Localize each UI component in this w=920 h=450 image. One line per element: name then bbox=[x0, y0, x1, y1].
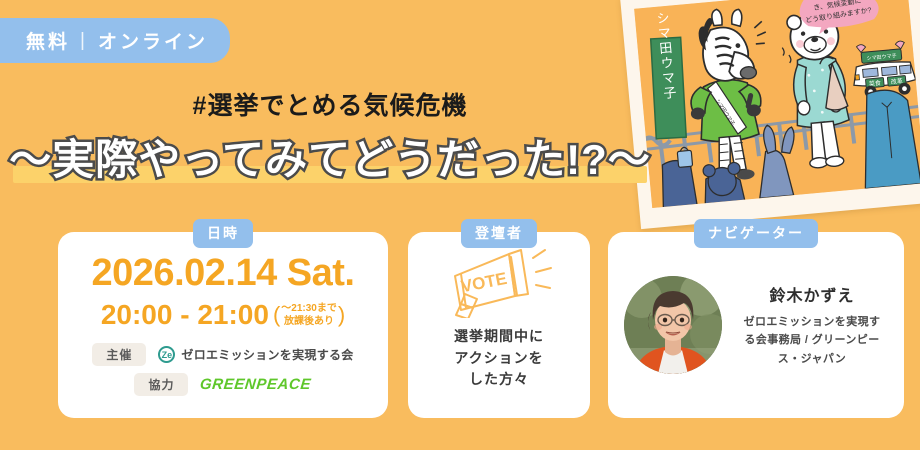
navigator-role-line-2: る会事務局 / グリーンピー bbox=[736, 331, 888, 349]
time-note-line-1: 〜21:30まで bbox=[281, 303, 337, 314]
event-date: 2026.02.14 Sat. bbox=[58, 254, 388, 292]
navigator-card: ナビゲーター bbox=[608, 232, 904, 418]
headline-subtitle: 〜実際やってみてどうだった!?〜 bbox=[9, 126, 651, 187]
speaker-card: 登壇者 VOTE 選挙期間中に アクションを した bbox=[408, 232, 590, 418]
navigator-name: 鈴木かずえ bbox=[736, 282, 888, 306]
credits-block: 主催 Ze ゼロエミッションを実現する会 協力 GREENPEACE bbox=[58, 343, 388, 396]
time-note-line-2: 放課後あり bbox=[284, 316, 334, 327]
event-time-row: 20:00 - 21:00 ( 〜21:30まで 放課後あり ) bbox=[58, 301, 388, 329]
zebra-candidate-street-scene-svg: シマ田ウマ子 bbox=[634, 0, 920, 208]
headline-hashtag: #選挙でとめる気候危機 bbox=[0, 86, 660, 122]
zero-emission-logo: Ze ゼロエミッションを実現する会 bbox=[158, 346, 353, 363]
event-time-note: ( 〜21:30まで 放課後あり ) bbox=[273, 302, 345, 329]
time-note-lines: 〜21:30まで 放課後あり bbox=[280, 302, 338, 329]
credit-row-cooperation: 協力 GREENPEACE bbox=[134, 373, 311, 396]
badge-online-label: オンライン bbox=[98, 27, 208, 54]
speaker-card-tag: 登壇者 bbox=[461, 219, 537, 248]
badge-separator: | bbox=[80, 30, 88, 52]
illustration-image: シマ田ウマ子 bbox=[634, 0, 920, 208]
organizer-label: 主催 bbox=[92, 343, 146, 366]
free-online-badge: 無料 | オンライン bbox=[0, 18, 230, 63]
megaphone-vote-icon: VOTE bbox=[441, 248, 557, 318]
navigator-role: ゼロエミッションを実現す る会事務局 / グリーンピー ス・ジャパン bbox=[736, 313, 888, 367]
date-card-tag: 日時 bbox=[193, 219, 253, 248]
megaphone-vote-text: VOTE bbox=[459, 269, 508, 296]
illustration-polaroid-frame: シマ田ウマ子 bbox=[620, 0, 920, 229]
zero-emission-name: ゼロエミッションを実現する会 bbox=[181, 346, 353, 363]
event-time: 20:00 - 21:00 bbox=[101, 301, 269, 329]
paren-open: ( bbox=[273, 304, 280, 326]
speaker-desc-line-3: した方々 bbox=[454, 369, 544, 391]
paren-close: ) bbox=[338, 304, 345, 326]
headline-block: #選挙でとめる気候危機 〜実際やってみてどうだった!?〜 bbox=[0, 86, 660, 187]
navigator-card-tag: ナビゲーター bbox=[694, 219, 818, 248]
speaker-desc-line-1: 選挙期間中に bbox=[454, 326, 544, 348]
headline-subtitle-wrap: 〜実際やってみてどうだった!?〜 bbox=[9, 126, 651, 187]
cooperation-label: 協力 bbox=[134, 373, 188, 396]
navigator-role-line-3: ス・ジャパン bbox=[736, 350, 888, 368]
poster-canvas: シマ田ウマ子 bbox=[0, 0, 920, 450]
avatar bbox=[624, 276, 722, 374]
date-card: 日時 2026.02.14 Sat. 20:00 - 21:00 ( 〜21:3… bbox=[58, 232, 388, 418]
speaker-description: 選挙期間中に アクションを した方々 bbox=[454, 326, 544, 391]
navigator-card-body: 鈴木かずえ ゼロエミッションを実現す る会事務局 / グリーンピー ス・ジャパン bbox=[608, 232, 904, 418]
badge-free-label: 無料 bbox=[26, 27, 70, 54]
navigator-role-line-1: ゼロエミッションを実現す bbox=[736, 313, 888, 331]
navigator-text: 鈴木かずえ ゼロエミッションを実現す る会事務局 / グリーンピー ス・ジャパン bbox=[736, 282, 888, 367]
speaker-desc-line-2: アクションを bbox=[454, 348, 544, 370]
speaker-card-body: VOTE 選挙期間中に アクションを した方々 bbox=[408, 232, 590, 391]
greenpeace-logo: GREENPEACE bbox=[200, 376, 313, 393]
credit-row-organizer: 主催 Ze ゼロエミッションを実現する会 bbox=[92, 343, 353, 366]
navigator-portrait-icon bbox=[624, 276, 722, 374]
zero-emission-mark-icon: Ze bbox=[158, 346, 175, 363]
